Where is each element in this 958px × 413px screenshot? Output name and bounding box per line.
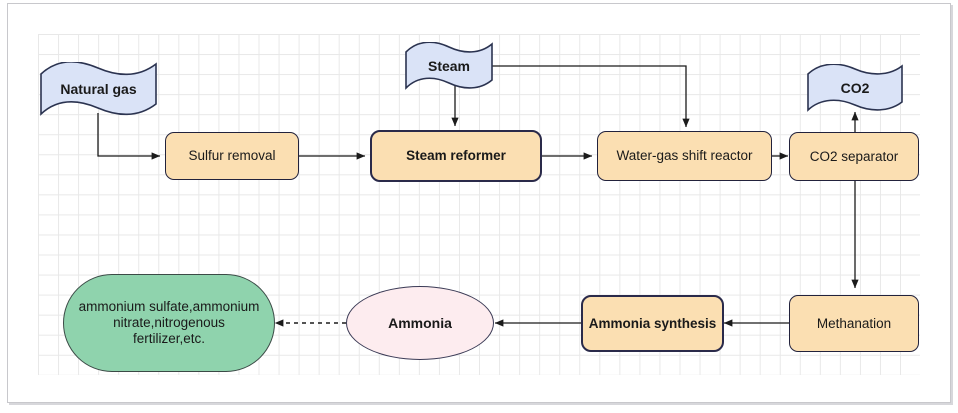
node-steam-reformer-label: Steam reformer xyxy=(406,148,506,164)
node-co2-separator[interactable]: CO2 separator xyxy=(789,132,919,181)
node-sulfur-removal[interactable]: Sulfur removal xyxy=(165,132,299,180)
node-water-gas-shift-reactor-label: Water-gas shift reactor xyxy=(616,148,752,164)
node-ammonia[interactable]: Ammonia xyxy=(346,286,494,360)
edge-steam-to-water-gas-shift xyxy=(492,66,686,127)
node-steam[interactable]: Steam xyxy=(404,42,494,90)
node-methanation-label: Methanation xyxy=(817,316,891,332)
node-co2-separator-label: CO2 separator xyxy=(810,149,899,165)
node-ammonia-synthesis[interactable]: Ammonia synthesis xyxy=(581,295,724,352)
edge-natural-gas-to-sulfur-removal xyxy=(98,113,160,156)
diagram-canvas: Natural gas Steam CO2 Sulfur removal Ste… xyxy=(0,0,958,413)
node-co2[interactable]: CO2 xyxy=(806,64,904,112)
node-methanation[interactable]: Methanation xyxy=(789,295,919,352)
node-natural-gas[interactable]: Natural gas xyxy=(39,62,158,116)
node-products-label: ammonium sulfate,ammonium nitrate,nitrog… xyxy=(78,299,260,347)
node-products[interactable]: ammonium sulfate,ammonium nitrate,nitrog… xyxy=(63,274,275,372)
node-steam-reformer[interactable]: Steam reformer xyxy=(370,130,542,182)
node-ammonia-label: Ammonia xyxy=(388,315,452,332)
node-sulfur-removal-label: Sulfur removal xyxy=(188,148,275,164)
node-water-gas-shift-reactor[interactable]: Water-gas shift reactor xyxy=(597,131,772,181)
node-ammonia-synthesis-label: Ammonia synthesis xyxy=(589,316,717,332)
